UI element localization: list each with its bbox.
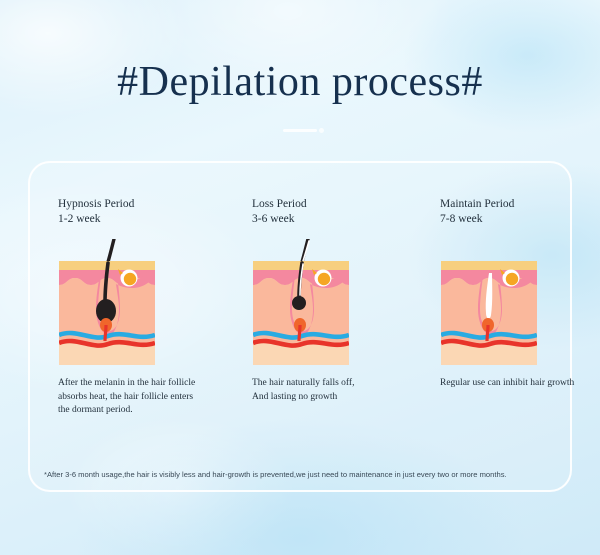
step-3-duration: 7-8 week bbox=[440, 212, 514, 227]
page-title: #Depilation process# bbox=[0, 58, 600, 106]
step-1-caption: After the melanin in the hair follicle a… bbox=[58, 377, 233, 418]
step-3-illustration bbox=[440, 239, 550, 369]
step-2-heading: Loss Period 3-6 week bbox=[252, 197, 307, 226]
skin-follicle-empty-icon bbox=[440, 239, 550, 369]
page-background: #Depilation process# Hypnosis Period 1-2… bbox=[0, 0, 600, 555]
step-2-caption: The hair naturally falls off, And lastin… bbox=[252, 377, 427, 404]
step-2-duration: 3-6 week bbox=[252, 212, 307, 227]
step-3-caption: Regular use can inhibit hair growth bbox=[440, 377, 600, 391]
skin-follicle-hair-detached-icon bbox=[252, 239, 362, 369]
step-1-title: Hypnosis Period bbox=[58, 198, 134, 210]
step-2-title: Loss Period bbox=[252, 198, 307, 210]
step-1-heading: Hypnosis Period 1-2 week bbox=[58, 197, 134, 226]
step-2-illustration bbox=[252, 239, 362, 369]
step-1-duration: 1-2 week bbox=[58, 212, 134, 227]
skin-follicle-hair-intact-icon bbox=[58, 239, 168, 369]
process-card: Hypnosis Period 1-2 week bbox=[28, 161, 572, 492]
title-divider-ornament bbox=[283, 129, 317, 132]
step-3-title: Maintain Period bbox=[440, 198, 514, 210]
step-1-illustration bbox=[58, 239, 168, 369]
card-footnote: *After 3-6 month usage,the hair is visib… bbox=[44, 469, 564, 480]
step-3-heading: Maintain Period 7-8 week bbox=[440, 197, 514, 226]
